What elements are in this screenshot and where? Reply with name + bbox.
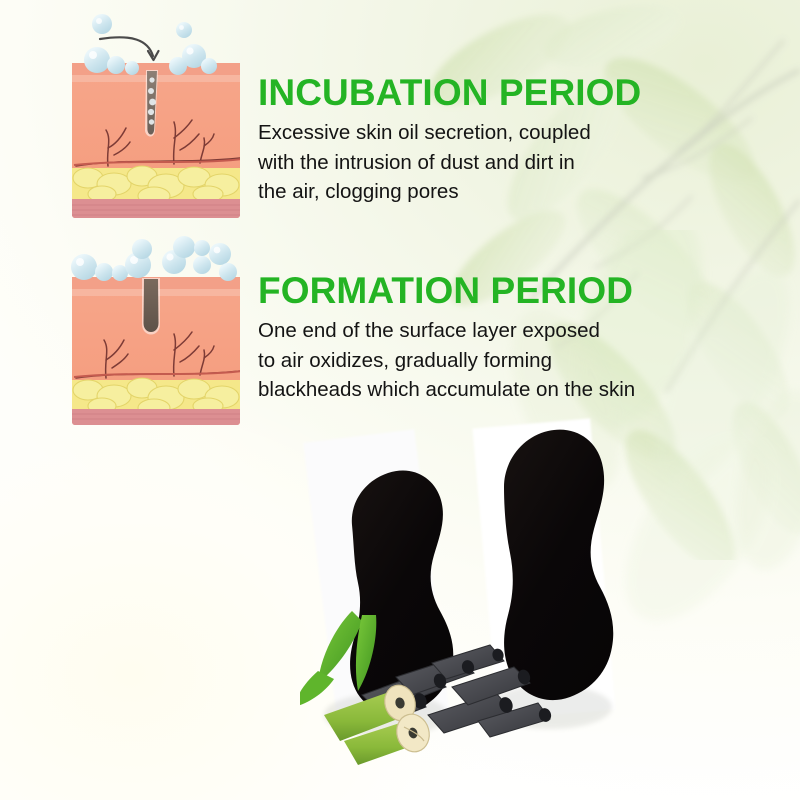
foam-bubbles (71, 236, 237, 281)
body-line: the air, clogging pores (258, 177, 658, 206)
illustration-formation-blackhead (62, 232, 250, 432)
illustration-incubation-clogged-pore (62, 8, 250, 230)
section-incubation: INCUBATION PERIOD Excessive skin oil sec… (258, 74, 658, 206)
section-formation: FORMATION PERIOD One end of the surface … (258, 272, 698, 404)
product-photo-nose-strips-charcoal (300, 415, 800, 800)
blackhead-plug (142, 278, 160, 335)
muscle-layer (72, 199, 240, 218)
body-line: with the intrusion of dust and dirt in (258, 148, 658, 177)
body-line: Excessive skin oil secretion, coupled (258, 118, 658, 147)
body-incubation-period: Excessive skin oil secretion, coupled wi… (258, 118, 658, 205)
body-line: to air oxidizes, gradually forming (258, 346, 698, 375)
infographic-page: INCUBATION PERIOD Excessive skin oil sec… (0, 0, 800, 800)
skin-block (72, 277, 242, 425)
body-line: One end of the surface layer exposed (258, 316, 698, 345)
heading-formation-period: FORMATION PERIOD (258, 272, 698, 310)
muscle-layer (72, 409, 240, 425)
body-formation-period: One end of the surface layer exposed to … (258, 316, 698, 403)
heading-incubation-period: INCUBATION PERIOD (258, 74, 658, 112)
skin-block (72, 63, 242, 218)
body-line: blackheads which accumulate on the skin (258, 375, 698, 404)
